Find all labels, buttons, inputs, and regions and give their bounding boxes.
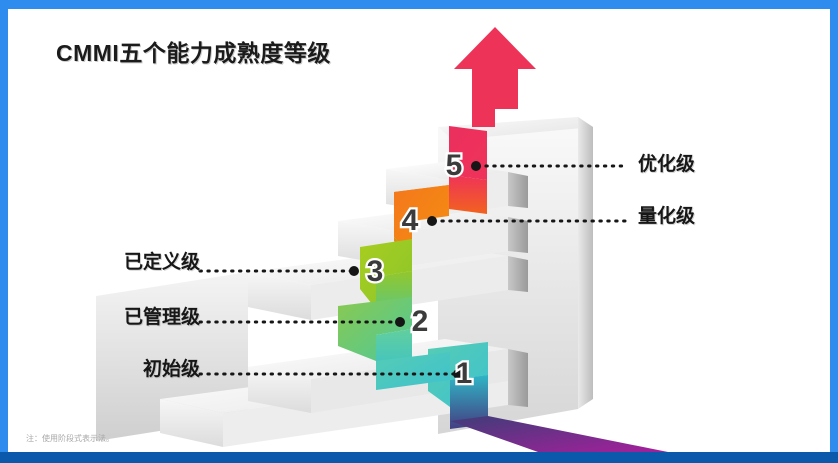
label-level-5: 优化级 [638,149,695,176]
slide-border-right [830,0,838,455]
slide-content-area: CMMI五个能力成熟度等级 [8,9,830,452]
label-level-3: 已定义级 [90,247,200,274]
footnote-text: 注：使用阶段式表示法。 [26,433,114,444]
dot-2 [395,317,405,327]
slide-border-top [0,0,838,9]
dot-3 [349,266,359,276]
up-arrow-icon [454,27,536,127]
slide-border-left [0,0,8,455]
step-number-4: 4 [402,204,419,237]
step-number-2: 2 [412,305,429,338]
label-level-4: 量化级 [638,201,695,228]
slide-canvas: CMMI五个能力成熟度等级 [0,0,838,463]
cmmi-staircase-diagram: 5 4 3 2 1 [8,9,830,452]
label-level-2: 已管理级 [90,302,200,329]
dot-5 [471,161,481,171]
dot-4 [427,216,437,226]
step-number-1: 1 [456,357,473,390]
step-number-5: 5 [446,149,463,182]
label-level-1: 初始级 [90,354,200,381]
step-number-3: 3 [367,255,384,288]
slide-border-bottom [0,452,838,463]
